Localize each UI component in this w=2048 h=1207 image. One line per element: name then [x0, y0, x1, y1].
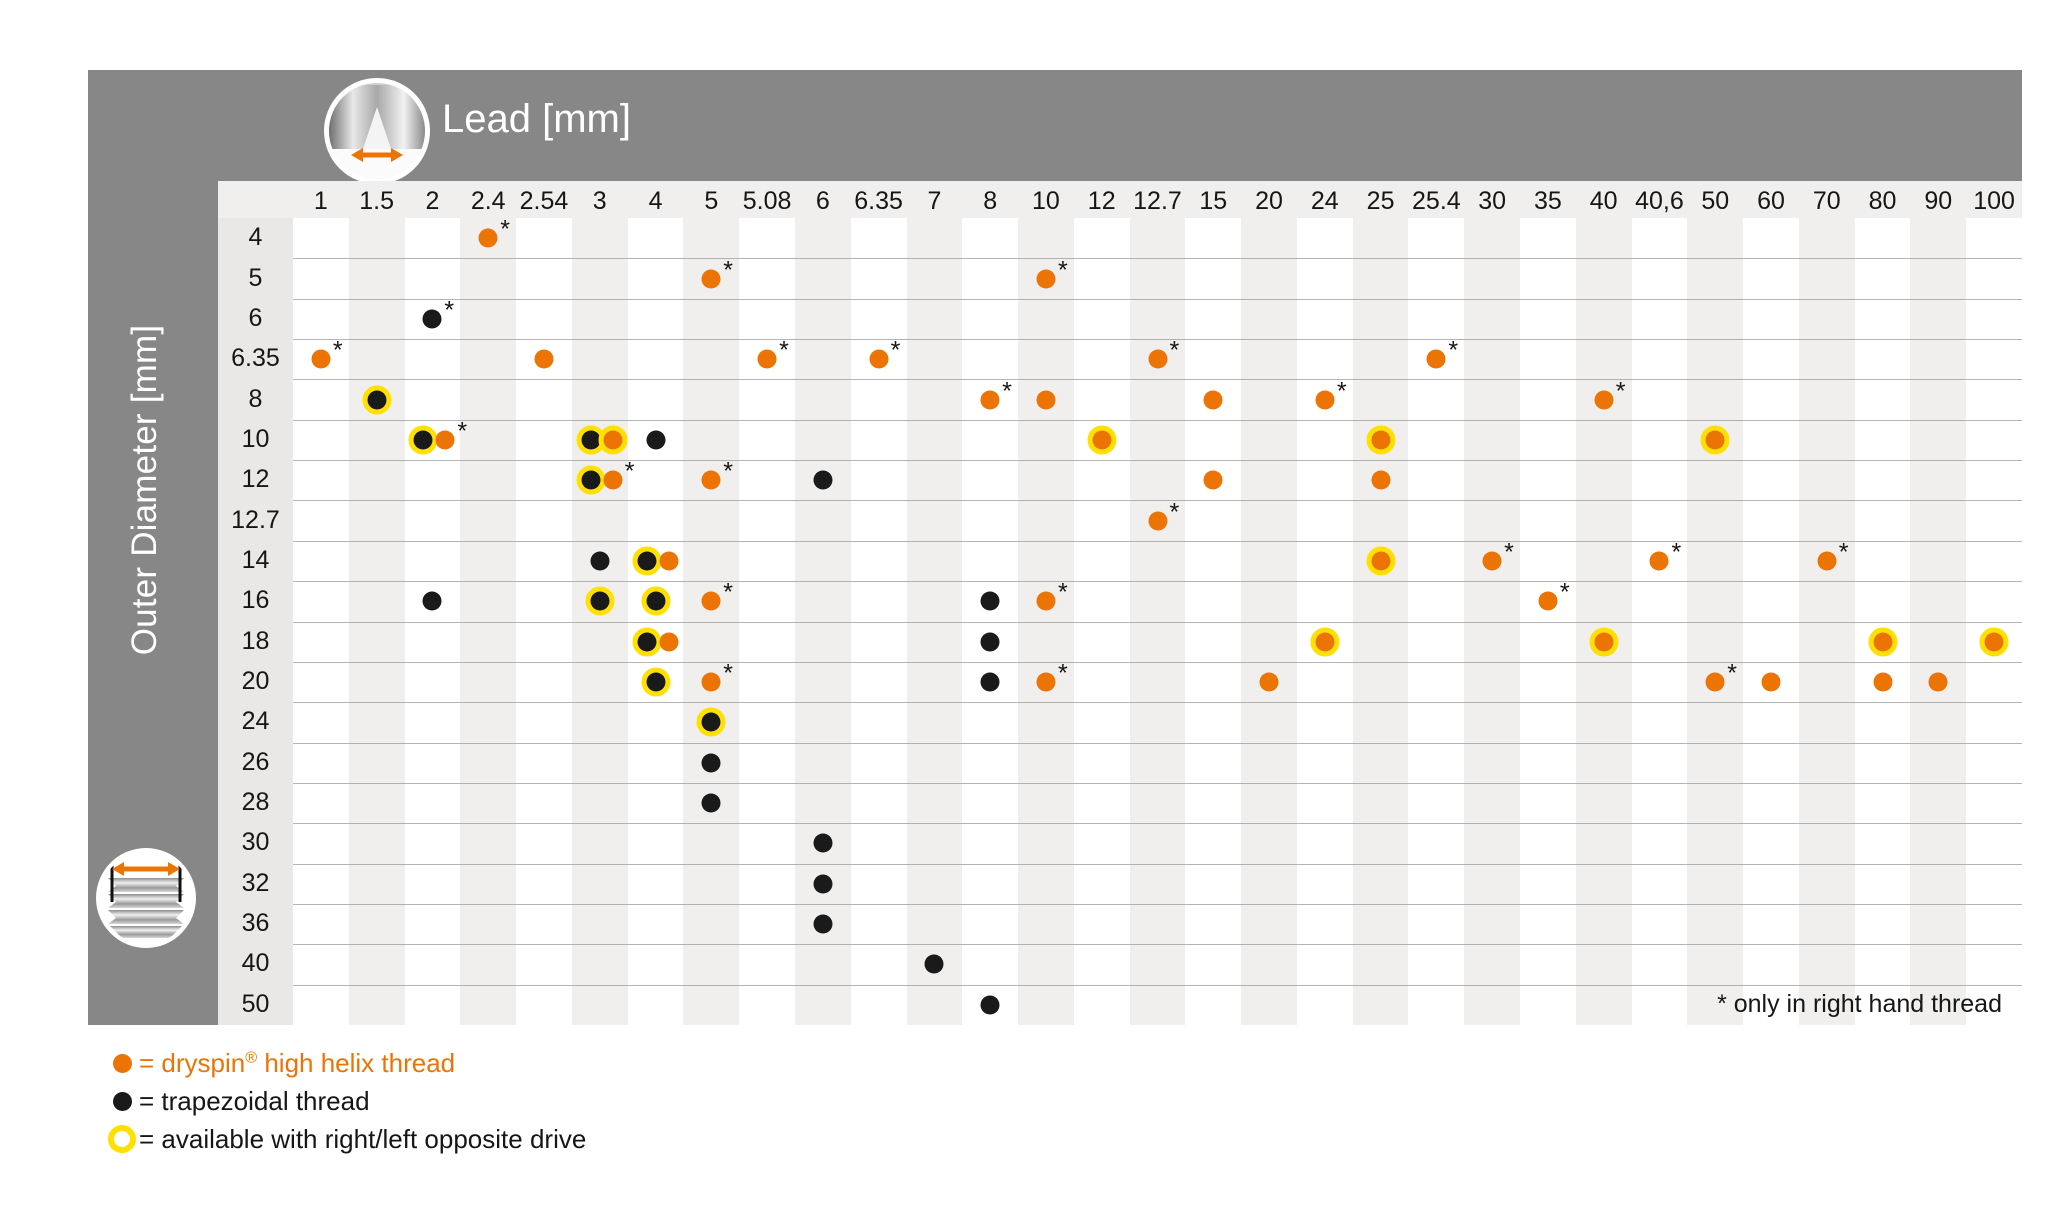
trapezoidal-dot-icon — [702, 713, 721, 732]
matrix-marker-black — [981, 995, 1000, 1014]
matrix-marker-orange — [1036, 269, 1055, 288]
matrix-marker-orange — [1650, 551, 1669, 570]
opposite-drive-ring-icon — [632, 546, 661, 575]
trapezoidal-dot-icon — [367, 390, 386, 409]
opposite-drive-ring-icon — [576, 466, 605, 495]
right-hand-thread-asterisk: * — [444, 298, 454, 323]
right-hand-thread-asterisk: * — [1170, 500, 1180, 525]
matrix-marker-ring-orange — [1589, 627, 1618, 656]
opposite-drive-ring-icon — [632, 627, 661, 656]
right-hand-thread-asterisk: * — [779, 339, 789, 364]
legend-label-opposite-drive: = available with right/left opposite dri… — [139, 1124, 586, 1155]
matrix-marker-orange — [1427, 350, 1446, 369]
matrix-marker-orange — [1817, 551, 1836, 570]
dryspin-dot-icon — [1873, 632, 1892, 651]
matrix-marker-ring-black — [362, 385, 391, 414]
matrix-marker-ring-black — [697, 708, 726, 737]
matrix-marker-orange — [1483, 551, 1502, 570]
dryspin-dot-icon — [1706, 673, 1725, 692]
trapezoidal-dot-icon — [414, 430, 433, 449]
lead-column-header: 100 — [1958, 187, 2030, 216]
right-hand-thread-asterisk: * — [1671, 540, 1681, 565]
trapezoidal-dot-icon — [590, 551, 609, 570]
trapezoidal-dot-icon — [813, 471, 832, 490]
matrix-marker-black — [423, 309, 442, 328]
matrix-marker-ring-black — [641, 668, 670, 697]
dryspin-dot-icon — [1650, 551, 1669, 570]
trapezoidal-dot-icon — [981, 592, 1000, 611]
dryspin-dot-icon — [1204, 390, 1223, 409]
outer-diameter-axis-title: Outer Diameter [mm] — [125, 190, 165, 790]
matrix-marker-orange — [1204, 390, 1223, 409]
dryspin-dot-icon — [702, 269, 721, 288]
matrix-marker-orange — [603, 471, 622, 490]
legend-label-dryspin: = dryspin® high helix thread — [139, 1048, 455, 1079]
thread-lead-cross-section-icon — [324, 78, 430, 184]
dryspin-dot-icon — [603, 471, 622, 490]
right-hand-thread-asterisk: * — [500, 218, 510, 243]
dryspin-dot-icon — [1036, 673, 1055, 692]
matrix-marker-orange — [1315, 390, 1334, 409]
matrix-marker-orange — [869, 350, 888, 369]
right-hand-thread-asterisk: * — [723, 460, 733, 485]
dryspin-dot-icon — [1594, 390, 1613, 409]
right-hand-thread-asterisk: * — [1727, 662, 1737, 687]
matrix-marker-orange — [1036, 592, 1055, 611]
trapezoidal-dot-icon — [581, 471, 600, 490]
dryspin-dot-icon — [311, 350, 330, 369]
matrix-marker-ring-black — [585, 587, 614, 616]
matrix-marker-orange — [1706, 673, 1725, 692]
marker-layer: ************************* — [218, 218, 2022, 1025]
opposite-drive-ring-icon — [1980, 627, 2009, 656]
dryspin-dot-icon — [1762, 673, 1781, 692]
dryspin-dot-icon — [1036, 390, 1055, 409]
matrix-marker-ring-orange — [1868, 627, 1897, 656]
trapezoidal-dot-icon — [590, 592, 609, 611]
dryspin-dot-icon — [1594, 632, 1613, 651]
dryspin-dot-icon — [1706, 430, 1725, 449]
dryspin-dot-icon — [1817, 551, 1836, 570]
dryspin-dot-icon — [1204, 471, 1223, 490]
dryspin-dot-icon — [702, 471, 721, 490]
dryspin-dot-icon — [1092, 430, 1111, 449]
right-hand-thread-asterisk: * — [625, 460, 635, 485]
dryspin-dot-icon — [869, 350, 888, 369]
opposite-drive-ring-icon — [1087, 425, 1116, 454]
dryspin-dot-icon — [1036, 269, 1055, 288]
matrix-marker-orange — [981, 390, 1000, 409]
matrix-marker-ring-orange — [1310, 627, 1339, 656]
matrix-marker-ring-orange — [1701, 425, 1730, 454]
matrix-marker-black — [925, 955, 944, 974]
matrix-marker-orange — [1204, 471, 1223, 490]
trapezoidal-dot-icon — [646, 592, 665, 611]
trapezoidal-dot-icon — [981, 673, 1000, 692]
dryspin-dot-icon — [1427, 350, 1446, 369]
matrix-marker-black — [981, 592, 1000, 611]
right-hand-thread-asterisk: * — [1002, 379, 1012, 404]
trapezoidal-dot-icon — [637, 632, 656, 651]
right-hand-thread-asterisk: * — [1058, 581, 1068, 606]
dryspin-dot-icon — [702, 592, 721, 611]
matrix-marker-orange — [1260, 673, 1279, 692]
matrix-marker-black — [646, 430, 665, 449]
black-dot-icon — [105, 1092, 139, 1111]
opposite-drive-ring-icon — [598, 425, 627, 454]
matrix-marker-orange — [534, 350, 553, 369]
right-hand-thread-asterisk: * — [1170, 339, 1180, 364]
opposite-drive-ring-icon — [1310, 627, 1339, 656]
dryspin-dot-icon — [981, 390, 1000, 409]
matrix-marker-ring-orange — [598, 425, 627, 454]
matrix-marker-orange — [436, 430, 455, 449]
trapezoidal-dot-icon — [423, 309, 442, 328]
matrix-marker-black — [981, 632, 1000, 651]
legend: = dryspin® high helix thread = trapezoid… — [105, 1044, 1005, 1158]
matrix-marker-ring-black — [576, 466, 605, 495]
matrix-marker-orange — [1929, 673, 1948, 692]
right-hand-thread-asterisk: * — [1839, 540, 1849, 565]
matrix-marker-orange — [1036, 673, 1055, 692]
right-hand-thread-asterisk: * — [1504, 540, 1514, 565]
trapezoidal-dot-icon — [813, 874, 832, 893]
dryspin-dot-icon — [1315, 632, 1334, 651]
footnote-right-hand-thread: * only in right hand thread — [1717, 990, 2002, 1019]
right-hand-thread-asterisk: * — [1448, 339, 1458, 364]
right-hand-thread-asterisk: * — [723, 258, 733, 283]
dryspin-dot-icon — [659, 551, 678, 570]
matrix-marker-black — [813, 915, 832, 934]
dryspin-dot-icon — [1483, 551, 1502, 570]
dryspin-dot-icon — [1371, 551, 1390, 570]
dryspin-dot-icon — [1929, 673, 1948, 692]
opposite-drive-ring-icon — [1366, 425, 1395, 454]
matrix-marker-ring-orange — [1366, 546, 1395, 575]
matrix-marker-orange — [1036, 390, 1055, 409]
opposite-drive-ring-icon — [1868, 627, 1897, 656]
matrix-marker-orange — [479, 229, 498, 248]
dryspin-dot-icon — [702, 673, 721, 692]
matrix-marker-black — [590, 551, 609, 570]
legend-item-trapezoidal: = trapezoidal thread — [105, 1082, 1005, 1120]
matrix-marker-black — [981, 673, 1000, 692]
matrix-marker-orange — [1762, 673, 1781, 692]
matrix-marker-orange — [702, 673, 721, 692]
trapezoidal-dot-icon — [702, 794, 721, 813]
matrix-marker-orange — [659, 632, 678, 651]
opposite-drive-ring-icon — [1589, 627, 1618, 656]
matrix-marker-black — [702, 794, 721, 813]
opposite-drive-ring-icon — [641, 587, 670, 616]
dryspin-dot-icon — [1260, 673, 1279, 692]
trapezoidal-dot-icon — [813, 915, 832, 934]
opposite-drive-ring-icon — [585, 587, 614, 616]
matrix-marker-orange — [702, 471, 721, 490]
dryspin-dot-icon — [1148, 511, 1167, 530]
matrix-marker-orange — [311, 350, 330, 369]
opposite-drive-ring-icon — [409, 425, 438, 454]
matrix-marker-ring-orange — [1087, 425, 1116, 454]
matrix-marker-ring-orange — [1366, 425, 1395, 454]
matrix-marker-black — [813, 471, 832, 490]
dryspin-dot-icon — [1371, 471, 1390, 490]
dryspin-dot-icon — [1538, 592, 1557, 611]
dryspin-dot-icon — [1873, 673, 1892, 692]
matrix-marker-orange — [702, 592, 721, 611]
opposite-drive-ring-icon — [1701, 425, 1730, 454]
right-hand-thread-asterisk: * — [1616, 379, 1626, 404]
right-hand-thread-asterisk: * — [457, 419, 467, 444]
matrix-marker-orange — [1873, 673, 1892, 692]
right-hand-thread-asterisk: * — [723, 662, 733, 687]
matrix-marker-orange — [1371, 471, 1390, 490]
lead-axis-title: Lead [mm] — [442, 97, 631, 142]
dryspin-dot-icon — [1985, 632, 2004, 651]
right-hand-thread-asterisk: * — [1560, 581, 1570, 606]
trapezoidal-dot-icon — [981, 632, 1000, 651]
matrix-marker-black — [702, 753, 721, 772]
dryspin-dot-icon — [436, 430, 455, 449]
matrix-marker-ring-orange — [1980, 627, 2009, 656]
right-hand-thread-asterisk: * — [1337, 379, 1347, 404]
dryspin-dot-icon — [1148, 350, 1167, 369]
matrix-marker-black — [813, 874, 832, 893]
right-hand-thread-asterisk: * — [1058, 662, 1068, 687]
matrix-marker-black — [813, 834, 832, 853]
matrix-marker-ring-black — [632, 546, 661, 575]
matrix-marker-orange — [1148, 350, 1167, 369]
dryspin-dot-icon — [1315, 390, 1334, 409]
trapezoidal-dot-icon — [646, 430, 665, 449]
dryspin-dot-icon — [758, 350, 777, 369]
trapezoidal-dot-icon — [637, 551, 656, 570]
matrix-marker-orange — [702, 269, 721, 288]
opposite-drive-ring-icon — [697, 708, 726, 737]
thread-outer-diameter-icon — [96, 848, 196, 948]
opposite-drive-ring-icon — [641, 668, 670, 697]
dryspin-dot-icon — [659, 632, 678, 651]
matrix-marker-ring-black — [409, 425, 438, 454]
dryspin-dot-icon — [603, 430, 622, 449]
trapezoidal-dot-icon — [981, 995, 1000, 1014]
trapezoidal-dot-icon — [423, 592, 442, 611]
right-hand-thread-asterisk: * — [1058, 258, 1068, 283]
matrix-marker-orange — [1594, 390, 1613, 409]
matrix-marker-black — [423, 592, 442, 611]
availability-matrix: 11.522.42.543455.0866.3578101212.7152024… — [218, 181, 2022, 1025]
yellow-ring-icon — [105, 1125, 139, 1153]
opposite-drive-ring-icon — [362, 385, 391, 414]
matrix-marker-orange — [1148, 511, 1167, 530]
dryspin-dot-icon — [479, 229, 498, 248]
matrix-marker-ring-black — [641, 587, 670, 616]
matrix-marker-ring-black — [632, 627, 661, 656]
right-hand-thread-asterisk: * — [891, 339, 901, 364]
opposite-drive-ring-icon — [1366, 546, 1395, 575]
legend-item-opposite-drive: = available with right/left opposite dri… — [105, 1120, 1005, 1158]
dryspin-dot-icon — [1036, 592, 1055, 611]
trapezoidal-dot-icon — [813, 834, 832, 853]
right-hand-thread-asterisk: * — [723, 581, 733, 606]
trapezoidal-dot-icon — [646, 673, 665, 692]
matrix-marker-orange — [1538, 592, 1557, 611]
legend-item-dryspin: = dryspin® high helix thread — [105, 1044, 1005, 1082]
legend-label-trapezoidal: = trapezoidal thread — [139, 1086, 370, 1117]
trapezoidal-dot-icon — [702, 753, 721, 772]
orange-dot-icon — [105, 1054, 139, 1073]
lead-column-header-row: 11.522.42.543455.0866.3578101212.7152024… — [218, 181, 2022, 218]
dryspin-dot-icon — [1371, 430, 1390, 449]
matrix-marker-orange — [659, 551, 678, 570]
dryspin-dot-icon — [534, 350, 553, 369]
trapezoidal-dot-icon — [925, 955, 944, 974]
lead-screw-availability-chart: Lead [mm] Outer Diameter [mm] — [0, 0, 2048, 1207]
right-hand-thread-asterisk: * — [333, 339, 343, 364]
matrix-marker-orange — [758, 350, 777, 369]
